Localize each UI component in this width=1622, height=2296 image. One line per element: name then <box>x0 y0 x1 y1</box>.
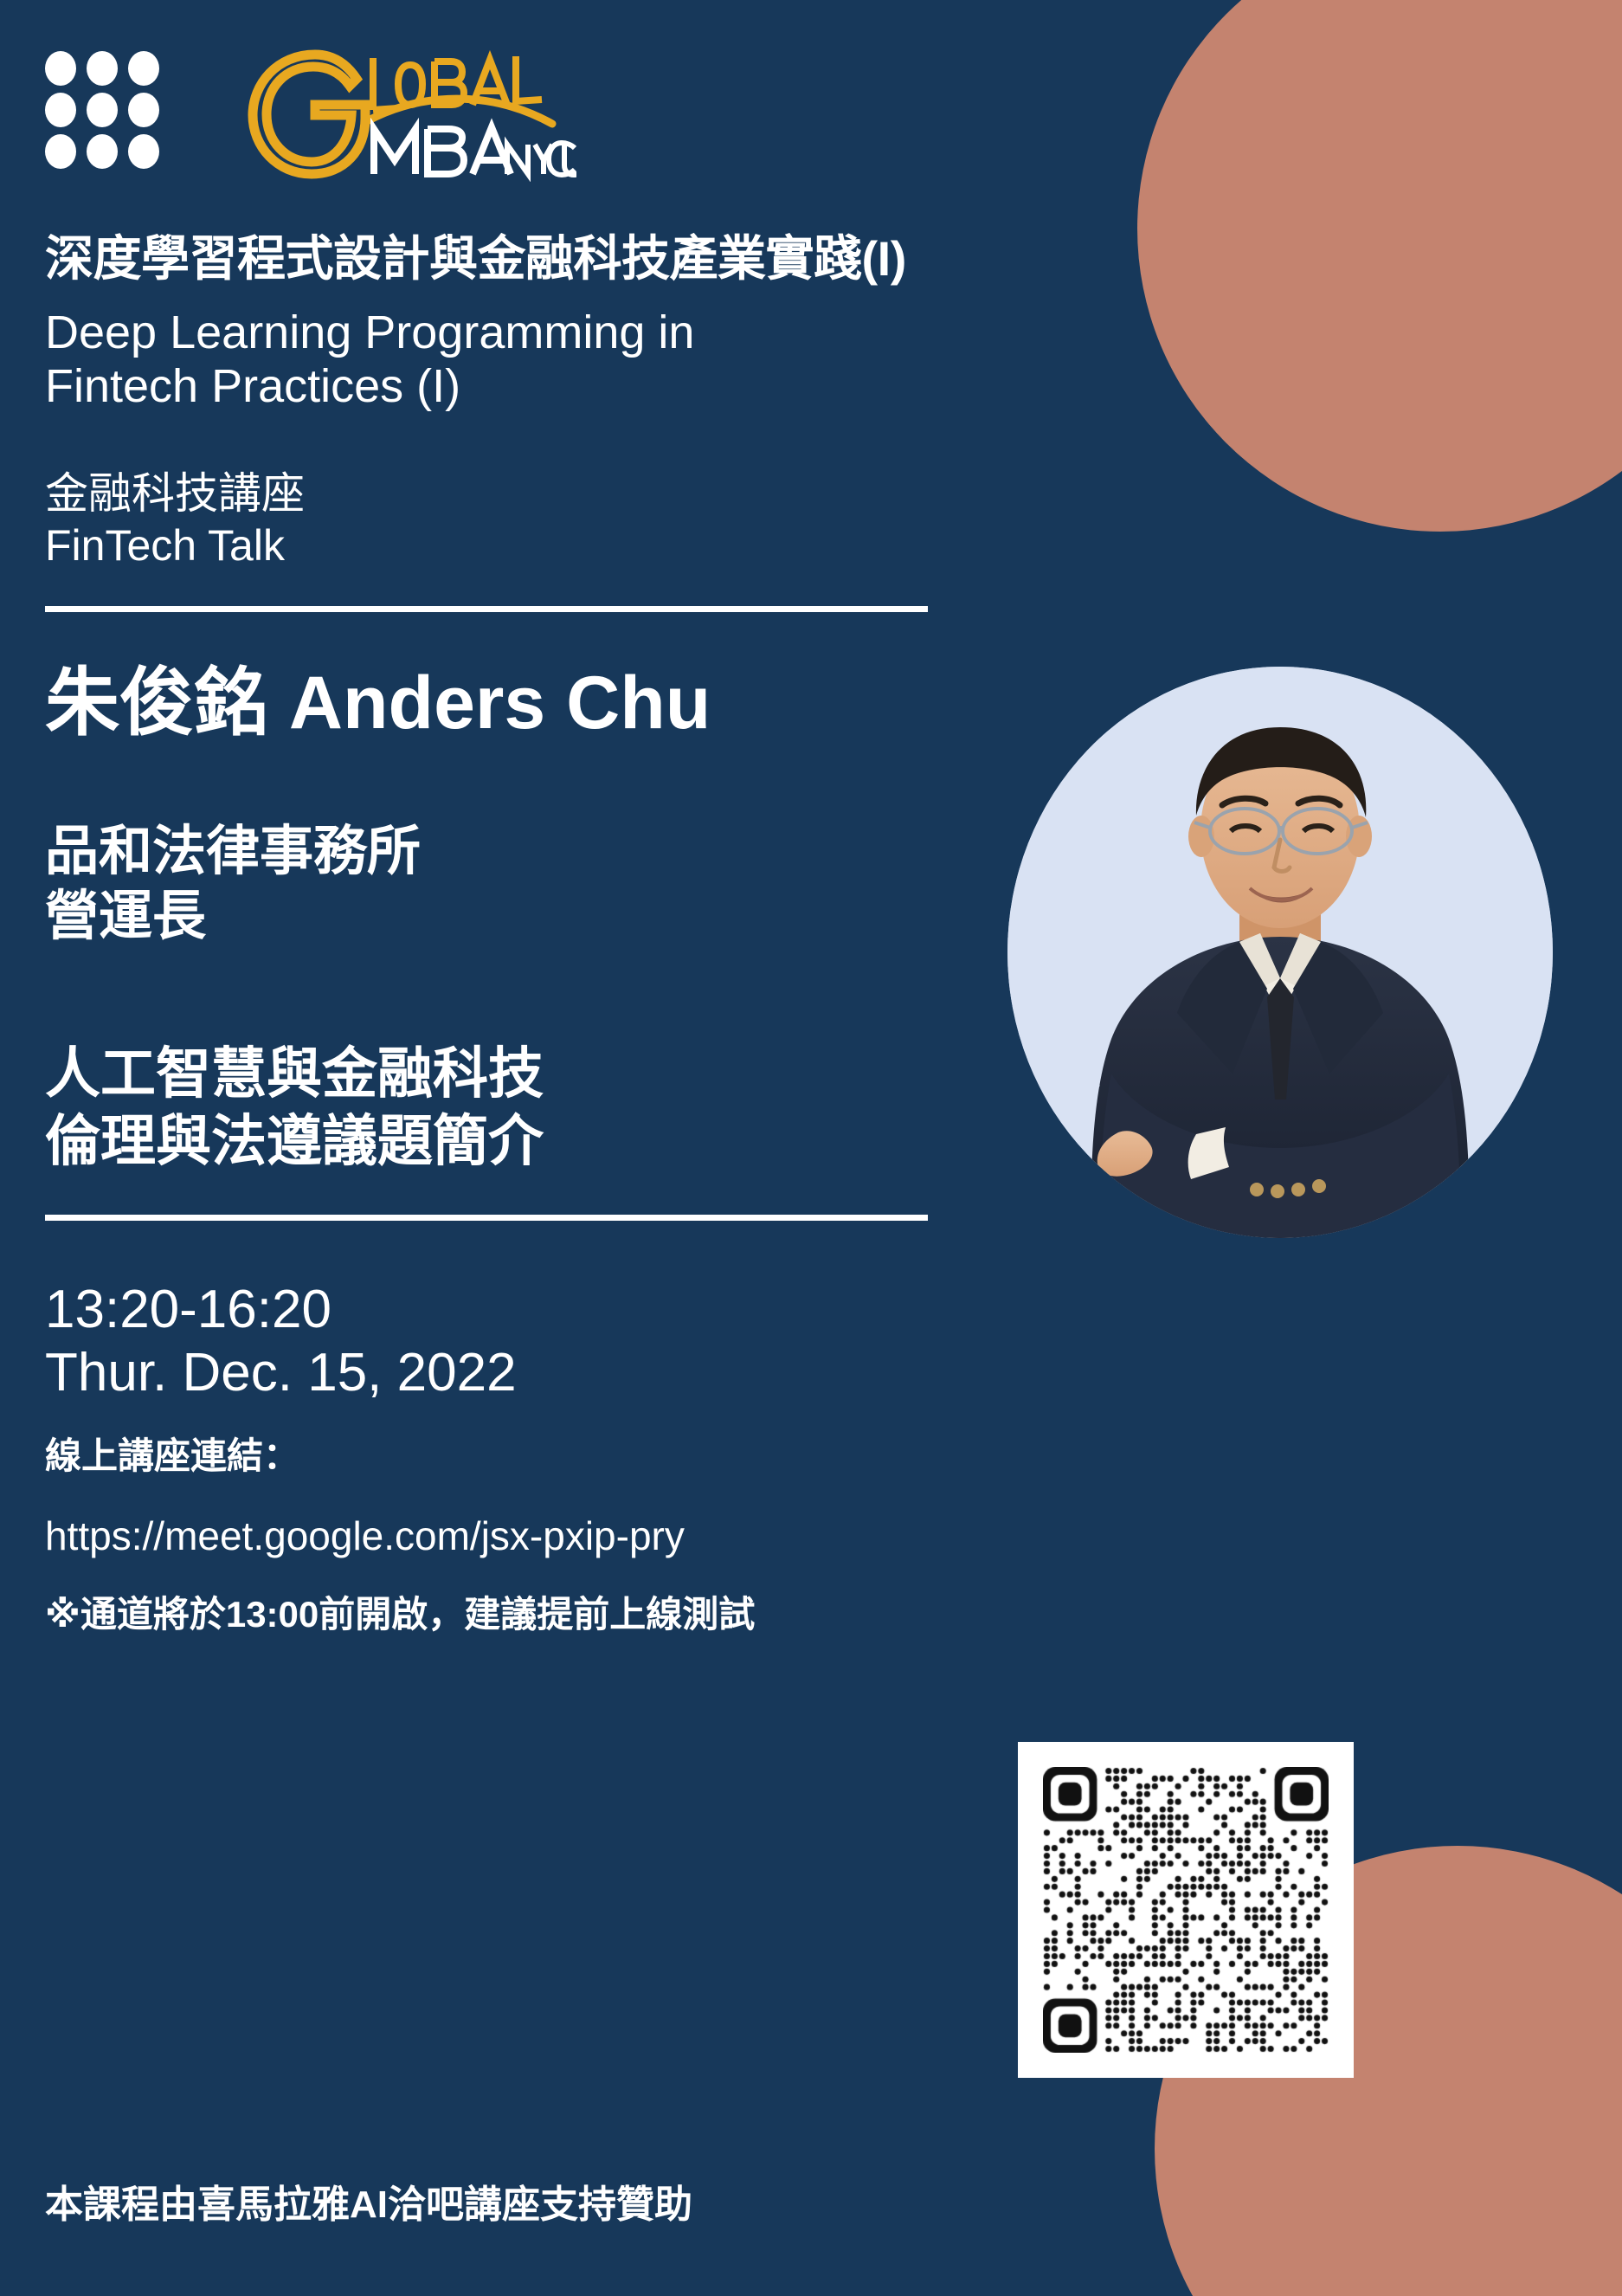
qr-canvas <box>1043 1767 1329 2053</box>
grid-dot <box>87 134 118 169</box>
decorative-circle-top-right <box>1137 0 1622 532</box>
logo-g-glyph <box>253 55 365 174</box>
course-title-chinese: 深度學習程式設計與金融科技產業實踐(I) <box>45 232 962 287</box>
grid-dot <box>128 51 159 86</box>
grid-dot <box>45 51 76 86</box>
talk-series-english: FinTech Talk <box>45 519 962 571</box>
grid-dot <box>45 93 76 127</box>
seminar-poster: 深度學習程式設計與金融科技產業實踐(I) Deep Learning Progr… <box>0 0 1622 2296</box>
talk-topic-line1: 人工智慧與金融科技 <box>45 1040 962 1107</box>
meeting-link-url[interactable]: https://meet.google.com/jsx-pxip-pry <box>45 1512 962 1559</box>
nine-dot-grid-logo-icon <box>45 51 159 165</box>
course-title-english-line2: Fintech Practices (I) <box>45 359 962 414</box>
meeting-link-qr-code[interactable] <box>1018 1742 1354 2078</box>
grid-dot <box>128 93 159 127</box>
poster-header <box>0 0 952 216</box>
global-mba-nycu-logo <box>213 39 576 177</box>
talk-series-chinese: 金融科技講座 <box>45 468 962 519</box>
speaker-organization-line1: 品和法律事務所 <box>45 819 962 885</box>
talk-series-block: 金融科技講座 FinTech Talk <box>45 468 962 571</box>
poster-content: 深度學習程式設計與金融科技產業實踐(I) Deep Learning Progr… <box>45 232 962 1638</box>
event-date: Thur. Dec. 15, 2022 <box>45 1341 962 1404</box>
divider-upper <box>45 606 928 612</box>
grid-dot <box>87 51 118 86</box>
sponsor-note: 本課程由喜馬拉雅AI洽吧講座支持贊助 <box>45 2173 692 2228</box>
grid-dot <box>87 93 118 127</box>
talk-topic: 人工智慧與金融科技 倫理與法遵議題簡介 <box>45 1040 962 1175</box>
meeting-link-label: 線上講座連結： <box>45 1427 962 1480</box>
grid-dot <box>128 134 159 169</box>
course-title-english-line1: Deep Learning Programming in <box>45 306 962 360</box>
speaker-organization: 品和法律事務所 營運長 <box>45 819 962 950</box>
speaker-name: 朱俊銘 Anders Chu <box>45 662 962 745</box>
meeting-access-note: ※通道將於13:00前開啟，建議提前上線測試 <box>45 1585 962 1638</box>
schedule-block: 13:20-16:20 Thur. Dec. 15, 2022 線上講座連結： … <box>45 1278 962 1638</box>
divider-lower <box>45 1215 928 1221</box>
course-title-english: Deep Learning Programming in Fintech Pra… <box>45 306 962 414</box>
talk-topic-line2: 倫理與法遵議題簡介 <box>45 1107 962 1175</box>
grid-dot <box>45 134 76 169</box>
event-time: 13:20-16:20 <box>45 1278 962 1341</box>
speaker-organization-line2: 營運長 <box>45 884 962 950</box>
speaker-portrait <box>1007 667 1553 1238</box>
